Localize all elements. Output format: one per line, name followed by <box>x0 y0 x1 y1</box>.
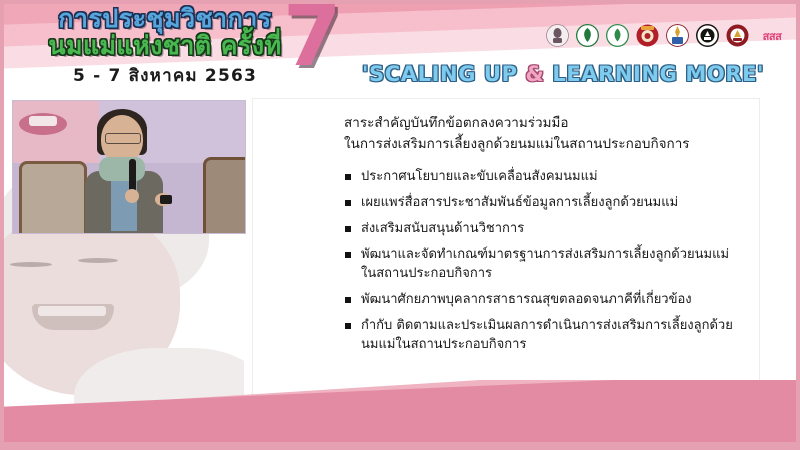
child-body <box>74 348 244 442</box>
event-title-line-2: นมแม่แห่งชาติ ครั้งที่ <box>20 33 310 59</box>
speaker-scarf <box>99 157 145 181</box>
lead-line-1: สาระสำคัญบันทึกข้อตกลงความร่วมมือ <box>344 113 744 134</box>
logo-red-emblem <box>636 24 659 47</box>
list-item: พัฒนาและจัดทำเกณฑ์มาตรฐานการส่งเสริมการเ… <box>344 246 744 284</box>
logo-green-cross-2 <box>606 24 629 47</box>
child-eye-right <box>78 258 118 263</box>
list-item-label: กำกับ ติดตามและประเมินผลการดำเนินการส่งเ… <box>361 318 733 352</box>
tagline-part-1: 'SCALING UP <box>362 62 526 86</box>
content-right-rule <box>759 98 760 438</box>
speaker-hand-mic <box>125 189 139 203</box>
logo-black-emblem <box>696 24 719 47</box>
event-title-line-1: การประชุมวิชาการ <box>20 6 310 32</box>
list-item: กำกับ ติดตามและประเมินผลการดำเนินการส่งเ… <box>344 317 744 355</box>
logo-thai-garuda <box>666 24 689 47</box>
event-title-block: การประชุมวิชาการ นมแม่แห่งชาติ ครั้งที่ … <box>20 6 310 89</box>
event-tagline: 'SCALING UP & LEARNING MORE' <box>362 62 764 86</box>
slide-inner-canvas: การประชุมวิชาการ นมแม่แห่งชาติ ครั้งที่ … <box>4 4 796 442</box>
bullet-square-icon <box>345 226 351 232</box>
photo-backdrop-teeth <box>29 116 57 126</box>
slide-body: สาระสำคัญบันทึกข้อตกลงความร่วมมือ ในการส… <box>4 96 796 442</box>
agreement-bullet-list: ประกาศนโยบายและขับเคลื่อนสังคมนมแม่ เผยแ… <box>344 168 744 355</box>
list-item-label: พัฒนาและจัดทำเกณฑ์มาตรฐานการส่งเสริมการเ… <box>361 247 729 281</box>
bullet-square-icon <box>345 297 351 303</box>
child-eye-left <box>10 262 52 267</box>
list-item-label: ประกาศนโยบายและขับเคลื่อนสังคมนมแม่ <box>361 169 598 184</box>
event-date: 5 - 7 สิงหาคม 2563 <box>20 62 310 89</box>
partner-logo-strip: สสส <box>546 24 788 47</box>
content-top-rule <box>252 98 760 99</box>
child-teeth <box>38 306 106 316</box>
logo-dark-red-emblem <box>726 24 749 47</box>
bullet-square-icon <box>345 174 351 180</box>
photo-chair-left <box>19 161 87 234</box>
list-item: เผยแพร่สื่อสารประชาสัมพันธ์ข้อมูลการเลี้… <box>344 194 744 213</box>
bullet-square-icon <box>345 200 351 206</box>
content-text-column: สาระสำคัญบันทึกข้อตกลงความร่วมมือ ในการส… <box>344 113 744 362</box>
logo-sss-text: สสส <box>756 24 788 47</box>
logo-green-cross-1 <box>576 24 599 47</box>
edition-number: 7 <box>283 4 341 78</box>
photo-chair-right <box>203 157 246 234</box>
tagline-part-2: LEARNING MORE' <box>544 62 764 86</box>
logo-royal-seal <box>546 24 569 47</box>
lead-line-2: ในการส่งเสริมการเลี้ยงลูกด้วยนมแม่ในสถาน… <box>344 134 744 155</box>
list-item-label: ส่งเสริมสนับสนุนด้านวิชาการ <box>361 221 524 236</box>
speaker-photo <box>12 100 246 234</box>
content-left-divider <box>252 98 253 438</box>
list-item: ส่งเสริมสนับสนุนด้านวิชาการ <box>344 220 744 239</box>
microphone-icon <box>129 159 136 193</box>
slide-header: การประชุมวิชาการ นมแม่แห่งชาติ ครั้งที่ … <box>4 4 796 96</box>
bullet-square-icon <box>345 323 351 329</box>
list-item: ประกาศนโยบายและขับเคลื่อนสังคมนมแม่ <box>344 168 744 187</box>
list-item-label: เผยแพร่สื่อสารประชาสัมพันธ์ข้อมูลการเลี้… <box>361 195 678 210</box>
list-item: พัฒนาศักยภาพบุคลากรสาธารณสุขตลอดจนภาคีที… <box>344 291 744 310</box>
presentation-clicker <box>160 195 172 204</box>
list-item-label: พัฒนาศักยภาพบุคลากรสาธารณสุขตลอดจนภาคีที… <box>361 292 692 307</box>
tagline-ampersand: & <box>526 62 545 86</box>
speaker-glasses <box>105 133 141 144</box>
bullet-square-icon <box>345 252 351 258</box>
presentation-slide: การประชุมวิชาการ นมแม่แห่งชาติ ครั้งที่ … <box>0 0 800 450</box>
